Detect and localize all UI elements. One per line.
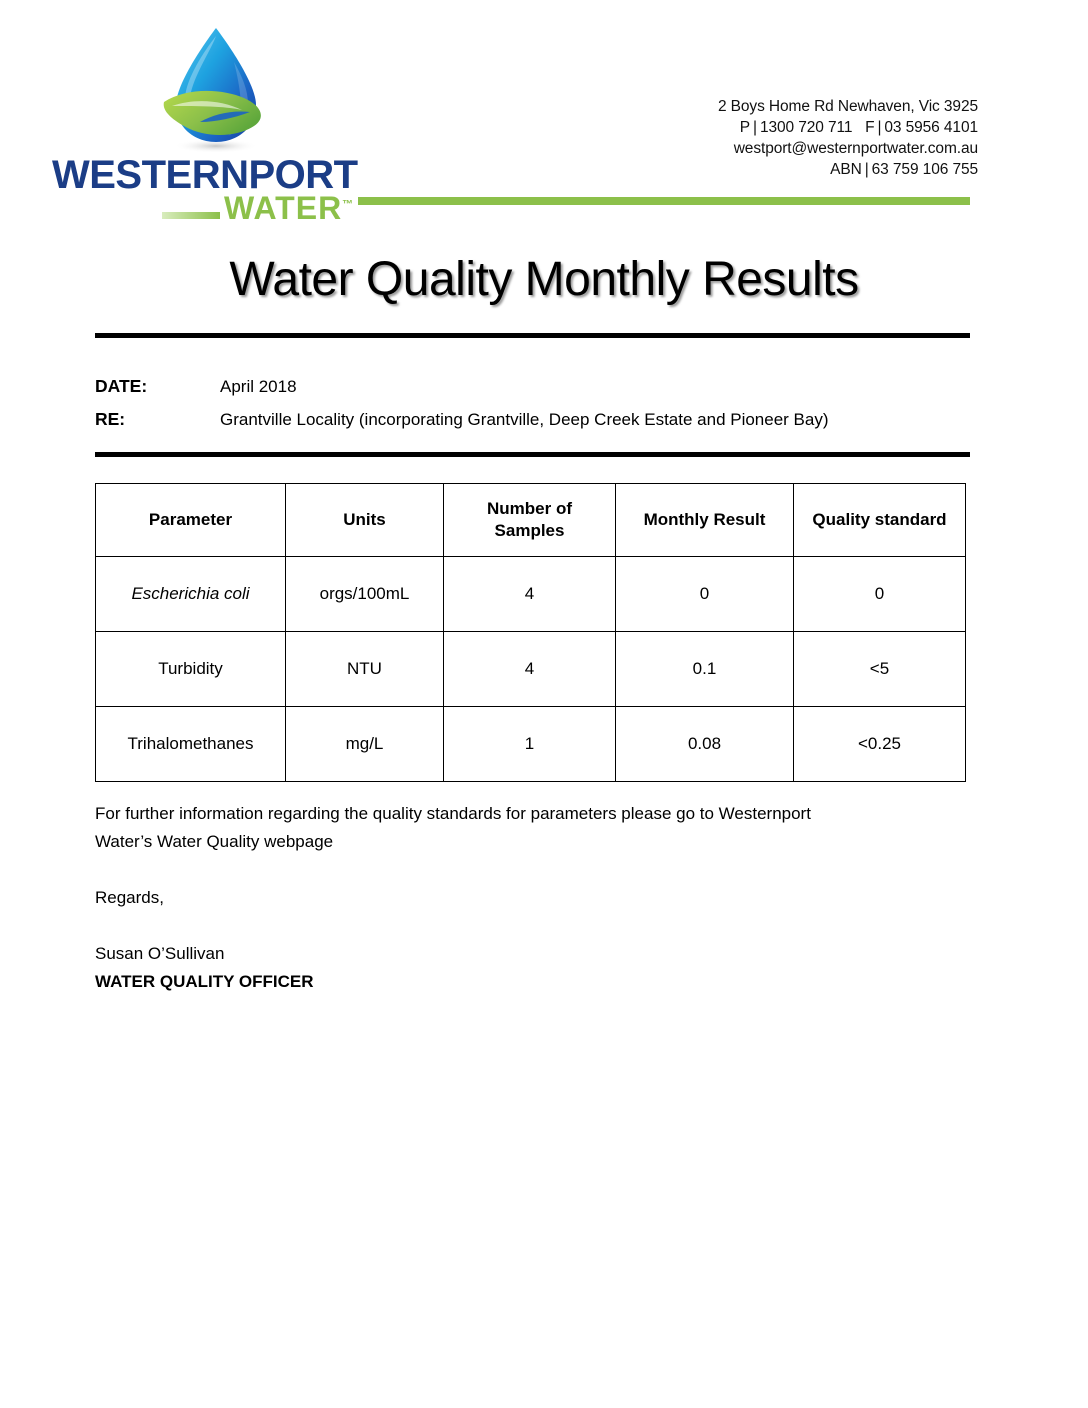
pipe-separator: | <box>874 119 884 136</box>
cell-units: NTU <box>286 632 444 707</box>
info-line-1: For further information regarding the qu… <box>95 800 975 828</box>
pipe-separator: | <box>750 119 760 136</box>
samples-line-1: Number of <box>487 499 572 518</box>
re-label: RE: <box>95 403 220 436</box>
meta-row-date: DATE: April 2018 <box>95 370 975 403</box>
document-meta: DATE: April 2018 RE: Grantville Locality… <box>95 370 975 436</box>
page-title: Water Quality Monthly Results <box>0 252 1088 307</box>
cell-units: orgs/100mL <box>286 557 444 632</box>
divider-bottom <box>95 452 970 457</box>
cell-units: mg/L <box>286 707 444 782</box>
table-row: Turbidity NTU 4 0.1 <5 <box>96 632 966 707</box>
cell-parameter: Turbidity <box>96 632 286 707</box>
wordmark-water: WATER™ <box>224 192 353 224</box>
table-row: Escherichia coli orgs/100mL 4 0 0 <box>96 557 966 632</box>
phone-label: P <box>740 119 750 136</box>
table-row: Trihalomethanes mg/L 1 0.08 <0.25 <box>96 707 966 782</box>
column-header-parameter: Parameter <box>96 484 286 557</box>
footer-text-block: For further information regarding the qu… <box>95 800 975 996</box>
date-value: April 2018 <box>220 370 297 403</box>
contact-phone-fax: P|1300 720 711 F|03 5956 4101 <box>718 117 978 138</box>
cell-parameter: Escherichia coli <box>96 557 286 632</box>
divider-top <box>95 333 970 338</box>
samples-line-2: Samples <box>495 521 565 540</box>
cell-quality-standard: 0 <box>794 557 966 632</box>
column-header-units: Units <box>286 484 444 557</box>
spacer <box>95 912 975 940</box>
contact-abn: ABN|63 759 106 755 <box>718 159 978 180</box>
cell-samples: 1 <box>444 707 616 782</box>
cell-parameter: Trihalomethanes <box>96 707 286 782</box>
fax-number: 03 5956 4101 <box>884 119 978 136</box>
cell-samples: 4 <box>444 632 616 707</box>
date-label: DATE: <box>95 370 220 403</box>
trademark-mark: ™ <box>342 198 353 210</box>
wordmark-water-text: WATER <box>224 190 342 226</box>
wordmark-accent-dash <box>162 212 220 219</box>
column-header-monthly-result: Monthly Result <box>616 484 794 557</box>
table-header-row: Parameter Units Number of Samples Monthl… <box>96 484 966 557</box>
cell-quality-standard: <5 <box>794 632 966 707</box>
phone-number: 1300 720 711 <box>760 119 852 136</box>
info-line-2: Water’s Water Quality webpage <box>95 828 975 856</box>
signer-role: WATER QUALITY OFFICER <box>95 968 975 996</box>
document-header: WESTERNPORT WATER™ 2 Boys Home Rd Newhav… <box>0 0 1088 225</box>
re-value: Grantville Locality (incorporating Grant… <box>220 403 829 436</box>
cell-quality-standard: <0.25 <box>794 707 966 782</box>
spacer <box>95 856 975 884</box>
water-quality-results-table: Parameter Units Number of Samples Monthl… <box>95 483 966 782</box>
contact-email: westport@westernportwater.com.au <box>718 138 978 159</box>
contact-address: 2 Boys Home Rd Newhaven, Vic 3925 <box>718 96 978 117</box>
column-header-number-of-samples: Number of Samples <box>444 484 616 557</box>
company-logo: WESTERNPORT WATER™ <box>52 22 362 217</box>
pipe-separator: | <box>862 161 872 178</box>
cell-monthly-result: 0.1 <box>616 632 794 707</box>
abn-label: ABN <box>830 161 862 178</box>
meta-row-re: RE: Grantville Locality (incorporating G… <box>95 403 975 436</box>
column-header-quality-standard: Quality standard <box>794 484 966 557</box>
contact-details: 2 Boys Home Rd Newhaven, Vic 3925 P|1300… <box>718 96 978 180</box>
cell-monthly-result: 0.08 <box>616 707 794 782</box>
wordmark-westernport: WESTERNPORT <box>52 155 362 195</box>
cell-samples: 4 <box>444 557 616 632</box>
abn-number: 63 759 106 755 <box>872 161 978 178</box>
regards-line: Regards, <box>95 884 975 912</box>
cell-monthly-result: 0 <box>616 557 794 632</box>
water-droplet-leaf-icon <box>160 22 272 154</box>
signer-name: Susan O’Sullivan <box>95 940 975 968</box>
header-green-rule <box>358 197 970 205</box>
document-page: WESTERNPORT WATER™ 2 Boys Home Rd Newhav… <box>0 0 1088 1408</box>
